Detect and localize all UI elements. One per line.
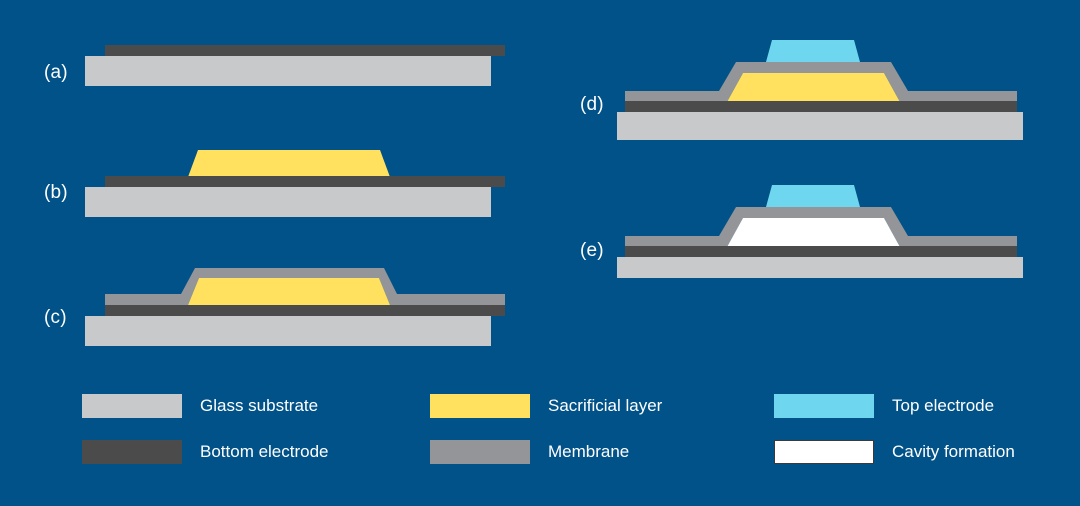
sacrificial-layer-shape (188, 150, 390, 177)
glass-substrate-layer (617, 112, 1023, 140)
legend-label-bottom-electrode: Bottom electrode (200, 442, 329, 462)
glass-substrate-layer (85, 187, 491, 217)
panel-label-b: (b) (44, 182, 68, 204)
panel-a-diagram (85, 45, 525, 115)
legend-swatch-sacrificial-layer (430, 394, 530, 418)
figure-canvas: (a) (b) (c) (d) (0, 0, 1080, 506)
panel-b-diagram (85, 145, 525, 225)
panel-e-diagram (617, 183, 1047, 278)
glass-substrate-layer (85, 316, 491, 346)
panel-label-c: (c) (44, 307, 67, 329)
legend-label-sacrificial-layer: Sacrificial layer (548, 396, 662, 416)
legend-item-sacrificial-layer: Sacrificial layer (430, 394, 662, 418)
glass-substrate-layer (617, 257, 1023, 278)
bottom-electrode-layer (625, 101, 1017, 112)
top-electrode-shape (766, 185, 860, 207)
legend-label-glass-substrate: Glass substrate (200, 396, 318, 416)
bottom-electrode-layer (105, 176, 505, 187)
legend-swatch-top-electrode (774, 394, 874, 418)
sacrificial-layer-shape (188, 278, 390, 305)
panel-label-d: (d) (580, 94, 604, 116)
legend-swatch-membrane (430, 440, 530, 464)
cavity-shape (727, 218, 900, 247)
bottom-electrode-layer (105, 45, 505, 56)
legend-item-cavity-formation: Cavity formation (774, 440, 1015, 464)
bottom-electrode-layer (625, 246, 1017, 257)
legend-item-top-electrode: Top electrode (774, 394, 994, 418)
panel-label-e: (e) (580, 240, 604, 262)
legend-label-cavity-formation: Cavity formation (892, 442, 1015, 462)
legend-swatch-bottom-electrode (82, 440, 182, 464)
bottom-electrode-layer (105, 305, 505, 316)
legend-swatch-glass-substrate (82, 394, 182, 418)
legend-item-glass-substrate: Glass substrate (82, 394, 318, 418)
legend-swatch-cavity-formation (774, 440, 874, 464)
panel-label-a: (a) (44, 62, 68, 84)
legend-item-membrane: Membrane (430, 440, 629, 464)
panel-d-diagram (617, 35, 1047, 140)
glass-substrate-layer (85, 56, 491, 86)
legend-item-bottom-electrode: Bottom electrode (82, 440, 329, 464)
top-electrode-shape (766, 40, 860, 62)
panel-c-diagram (85, 262, 525, 352)
sacrificial-layer-shape (727, 73, 900, 102)
legend-label-membrane: Membrane (548, 442, 629, 462)
legend-label-top-electrode: Top electrode (892, 396, 994, 416)
